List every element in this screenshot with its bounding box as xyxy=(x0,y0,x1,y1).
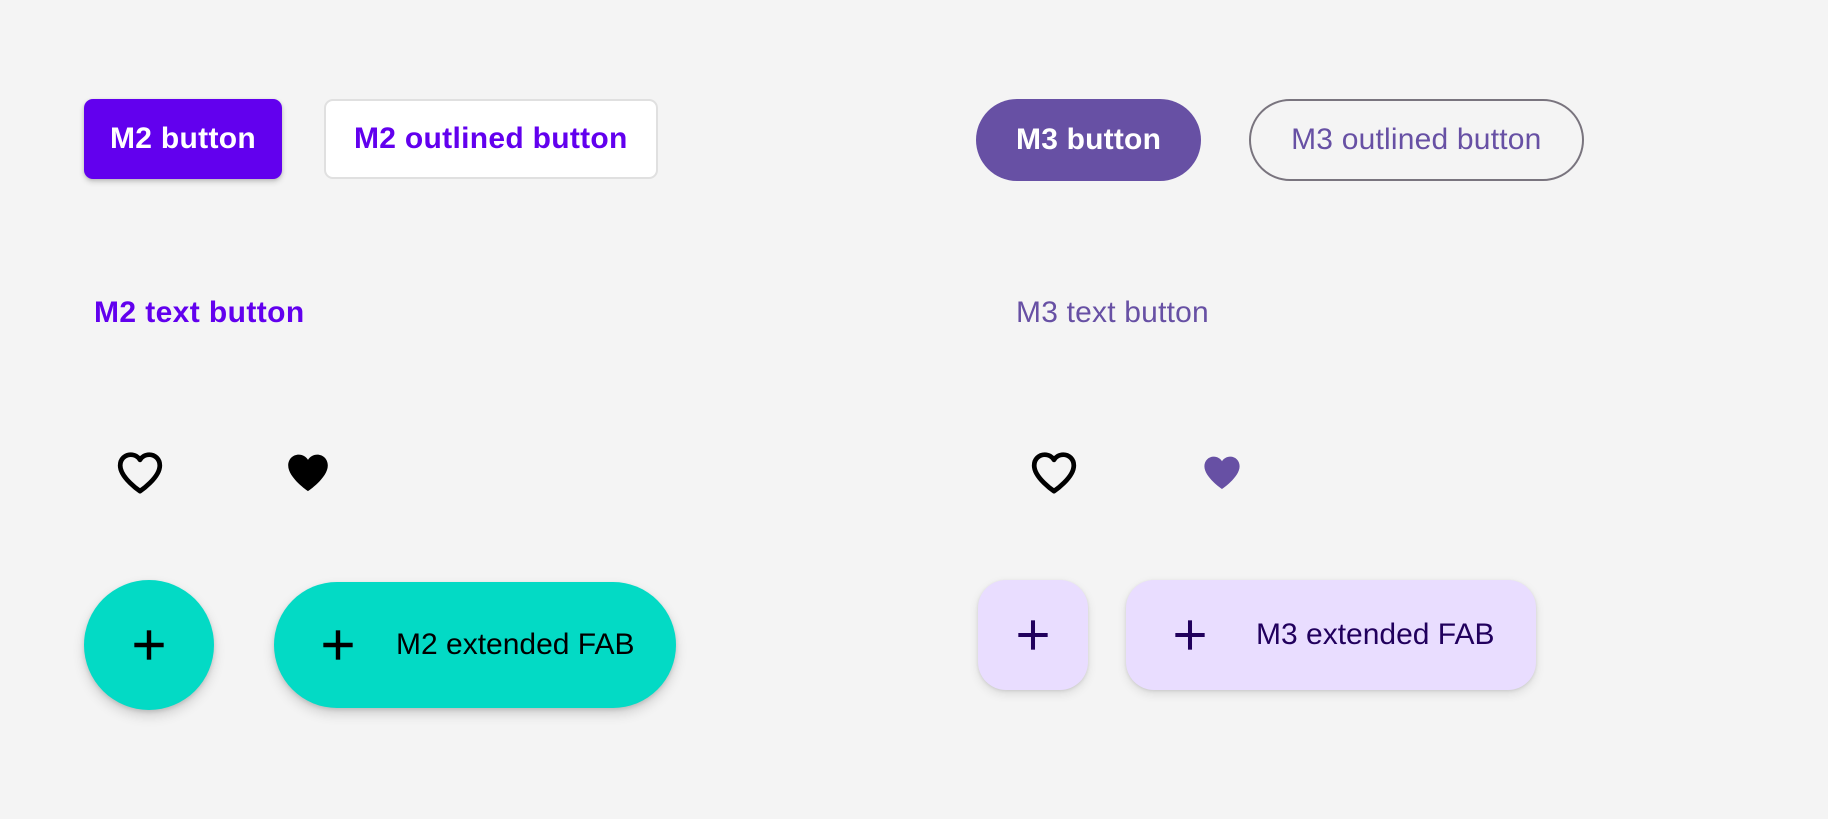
m2-icons-row xyxy=(108,440,340,504)
m3-buttons-row: M3 button M3 outlined button xyxy=(976,99,1584,181)
m2-extended-fab-button[interactable]: M2 extended FAB xyxy=(274,582,676,708)
component-comparison-canvas: M2 button M2 outlined button M2 text but… xyxy=(0,0,1828,819)
m3-extended-fab-label: M3 extended FAB xyxy=(1256,618,1494,652)
m2-text-button[interactable]: M2 text button xyxy=(84,290,315,336)
m3-text-button-row: M3 text button xyxy=(1006,290,1219,336)
plus-icon xyxy=(127,623,171,667)
m2-buttons-row: M2 button M2 outlined button xyxy=(84,99,658,179)
plus-icon xyxy=(316,623,360,667)
m3-icons-row xyxy=(1022,440,1254,504)
m3-text-button[interactable]: M3 text button xyxy=(1006,290,1219,336)
m2-text-button-row: M2 text button xyxy=(84,290,315,336)
m2-fabs-row: M2 extended FAB xyxy=(84,580,676,710)
m3-fab-button[interactable] xyxy=(978,580,1088,690)
m3-filled-button[interactable]: M3 button xyxy=(976,99,1201,181)
m3-favorite-border-icon-button[interactable] xyxy=(1022,440,1086,504)
m3-column: M3 button M3 outlined button M3 text but… xyxy=(914,0,1828,819)
m2-fab-button[interactable] xyxy=(84,580,214,710)
heart-outline-icon xyxy=(111,445,169,499)
m3-outlined-button[interactable]: M3 outlined button xyxy=(1249,99,1583,181)
m3-fabs-row: M3 extended FAB xyxy=(978,580,1536,690)
m3-favorite-filled-icon-button[interactable] xyxy=(1190,440,1254,504)
m2-contained-button[interactable]: M2 button xyxy=(84,99,282,179)
m2-favorite-filled-icon-button[interactable] xyxy=(276,440,340,504)
m3-extended-fab-button[interactable]: M3 extended FAB xyxy=(1126,580,1536,690)
m2-column: M2 button M2 outlined button M2 text but… xyxy=(0,0,914,819)
heart-filled-icon xyxy=(1196,448,1248,496)
plus-icon xyxy=(1168,613,1212,657)
m2-extended-fab-label: M2 extended FAB xyxy=(396,628,634,662)
m2-favorite-border-icon-button[interactable] xyxy=(108,440,172,504)
heart-outline-icon xyxy=(1025,445,1083,499)
plus-icon xyxy=(1011,613,1055,657)
heart-filled-icon xyxy=(279,445,337,499)
m2-outlined-button[interactable]: M2 outlined button xyxy=(324,99,658,179)
